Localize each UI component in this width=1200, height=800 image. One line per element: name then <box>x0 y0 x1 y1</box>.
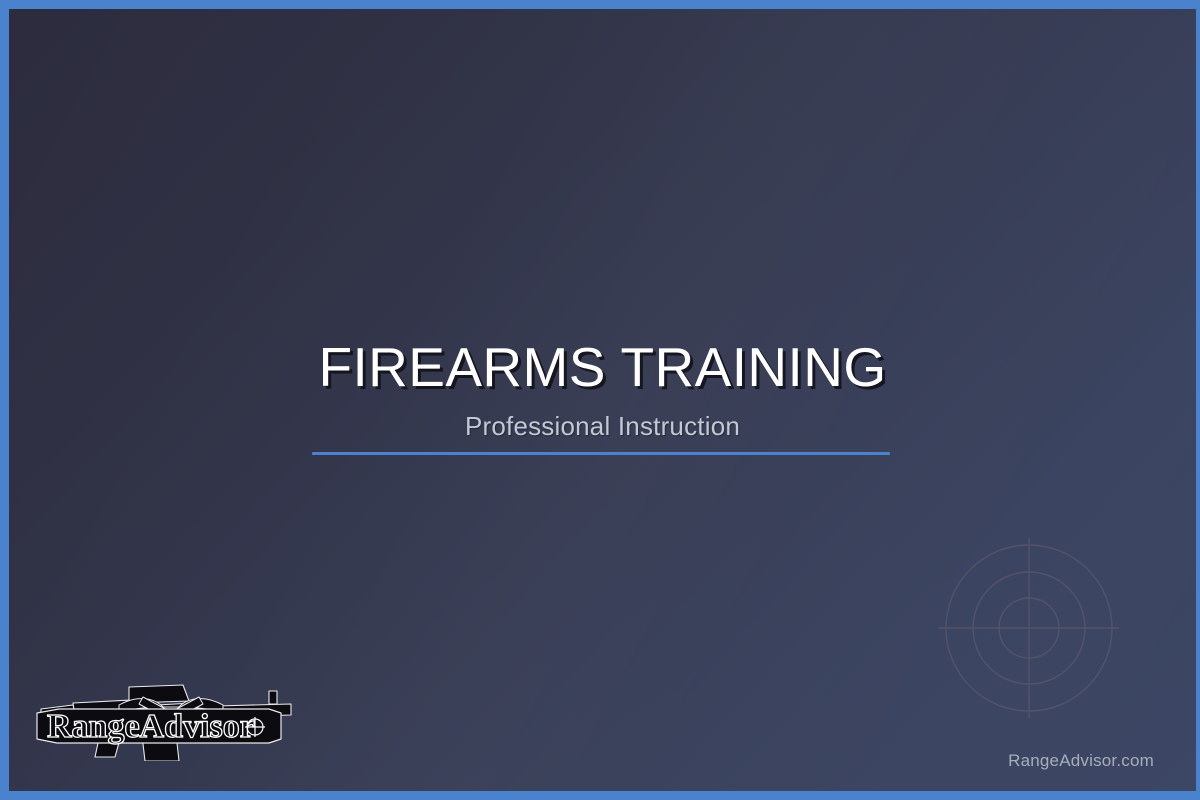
title-divider <box>312 452 890 455</box>
logo-wordmark: RangeAdvisor <box>47 708 255 745</box>
footer-url: RangeAdvisor.com <box>1008 751 1154 771</box>
slide-canvas: FIREARMS TRAINING Professional Instructi… <box>9 9 1196 791</box>
slide-title: FIREARMS TRAINING <box>9 339 1196 397</box>
crosshair-target-icon <box>933 532 1125 724</box>
brand-logo: RangeAdvisor <box>33 675 309 761</box>
title-block: FIREARMS TRAINING Professional Instructi… <box>9 339 1196 442</box>
presentation-slide: FIREARMS TRAINING Professional Instructi… <box>0 0 1200 800</box>
slide-subtitle: Professional Instruction <box>9 411 1196 442</box>
